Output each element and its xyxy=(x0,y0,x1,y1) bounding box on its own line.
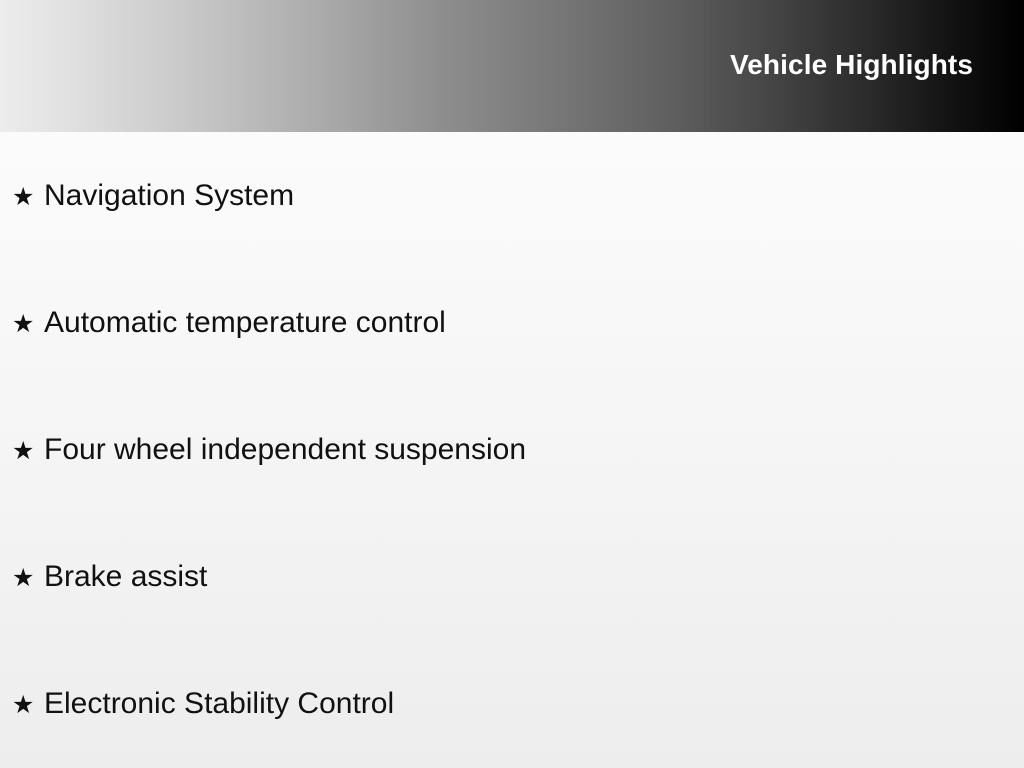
page-title: Vehicle Highlights xyxy=(730,51,1024,81)
list-item: ★ Navigation System xyxy=(0,132,1024,259)
star-bullet-icon: ★ xyxy=(12,439,44,464)
highlight-label: Four wheel independent suspension xyxy=(44,435,526,465)
list-item: ★ Brake assist xyxy=(0,513,1024,640)
list-item: ★ Four wheel independent suspension xyxy=(0,386,1024,513)
highlight-label: Brake assist xyxy=(44,562,207,592)
list-item: ★ Automatic temperature control xyxy=(0,259,1024,386)
star-bullet-icon: ★ xyxy=(12,185,44,210)
header-banner: Vehicle Highlights xyxy=(0,0,1024,132)
highlight-label: Navigation System xyxy=(44,181,294,211)
content-area: ★ Navigation System ★ Automatic temperat… xyxy=(0,132,1024,768)
star-bullet-icon: ★ xyxy=(12,312,44,337)
list-item: ★ Electronic Stability Control xyxy=(0,640,1024,767)
highlight-label: Automatic temperature control xyxy=(44,308,446,338)
star-bullet-icon: ★ xyxy=(12,566,44,591)
highlight-list: ★ Navigation System ★ Automatic temperat… xyxy=(0,132,1024,767)
star-bullet-icon: ★ xyxy=(12,693,44,718)
vehicle-highlights-slide: Vehicle Highlights ★ Navigation System ★… xyxy=(0,0,1024,768)
highlight-label: Electronic Stability Control xyxy=(44,689,394,719)
